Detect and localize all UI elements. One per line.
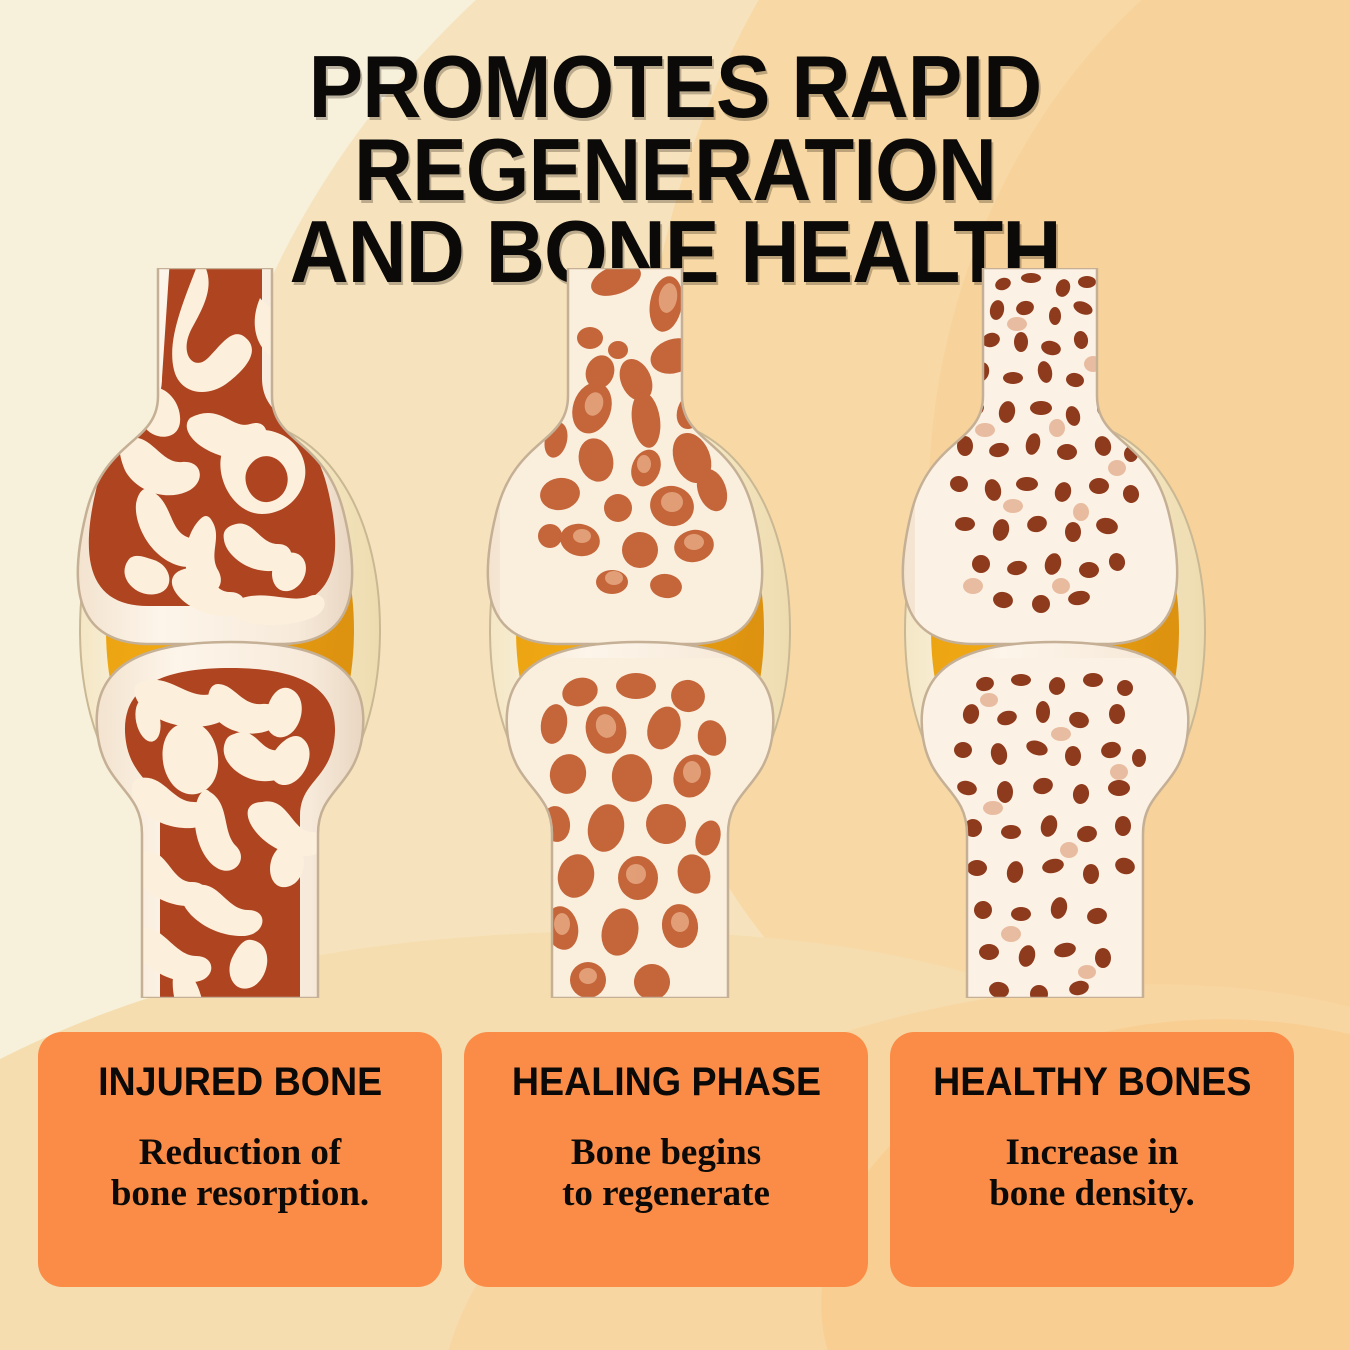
stage-card-title: HEALING PHASE [511,1062,820,1102]
healthy-bone-illustration [855,268,1255,998]
illustration-row [0,268,1350,998]
stage-card-healing[interactable]: HEALING PHASE Bone begins to regenerate [464,1032,868,1287]
upper-bone [78,268,352,644]
infographic-canvas: PROMOTES RAPID REGENERATION AND BONE HEA… [0,0,1350,1350]
healing-bone-illustration [440,268,840,998]
injured-bone-illustration [30,268,430,998]
stage-card-body: Bone begins to regenerate [562,1132,770,1215]
stage-card-row: INJURED BONE Reduction of bone resorptio… [38,1032,1294,1287]
lower-bone [500,642,780,998]
page-title: PROMOTES RAPID REGENERATION AND BONE HEA… [47,46,1303,294]
stage-card-title: HEALTHY BONES [933,1062,1251,1102]
lower-bone [915,642,1195,998]
stage-card-injured[interactable]: INJURED BONE Reduction of bone resorptio… [38,1032,442,1287]
stage-card-title: INJURED BONE [98,1062,382,1102]
lower-bone [97,642,364,998]
marrow-cavity [500,658,780,998]
stage-card-body: Reduction of bone resorption. [111,1132,369,1215]
stage-card-body: Increase in bone density. [989,1132,1195,1215]
stage-card-healthy[interactable]: HEALTHY BONES Increase in bone density. [890,1032,1294,1287]
